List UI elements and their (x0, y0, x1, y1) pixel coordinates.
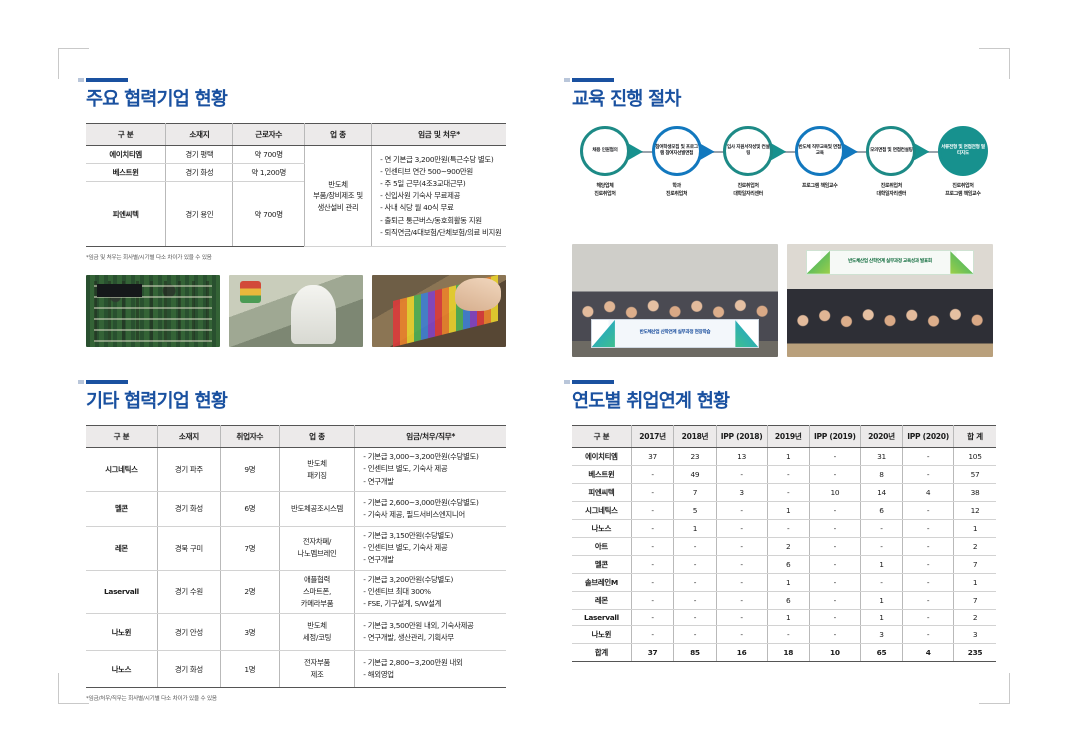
cell-total: 2 (954, 538, 996, 556)
col-ipp-2018: IPP (2018) (716, 426, 767, 448)
cell-count: 31 (860, 448, 902, 466)
cell-hires: 1명 (220, 651, 279, 688)
cell-total: 2 (954, 610, 996, 626)
table-row: 레몬 경북 구미 7명 전자차폐/ 나노멤브레인 - 기본급 3,150만원(수… (86, 526, 506, 570)
cell-company-name: 나노윈 (86, 614, 157, 651)
benefit-line: - 신입사원 기숙사 무료제공 (380, 190, 502, 202)
cell-industry: 반도체 세정/코팅 (279, 614, 355, 651)
main-partners-table: 구 분 소재지 근로자수 업 종 임금 및 처우* 에이치티엠 경기 평택 약 … (86, 123, 506, 247)
cell-count: - (903, 538, 954, 556)
cell-count: 1 (860, 556, 902, 574)
cell-hires: 6명 (220, 491, 279, 526)
cell-company-name: 레몬 (86, 526, 157, 570)
cell-count: - (809, 520, 860, 538)
cell-count: - (809, 556, 860, 574)
page-title-education-flow: 교육 진행 절차 (572, 89, 996, 110)
table-row: 아트---2---2 (572, 538, 996, 556)
detail-line: - 인센티브 최대 300% (363, 586, 502, 598)
cell-company-name: 시그네틱스 (86, 448, 157, 492)
cell-count: - (674, 556, 716, 574)
col-division: 구 분 (86, 426, 157, 448)
other-partners-table: 구 분 소재지 취업자수 업 종 임금/처우/직무* 시그네틱스 경기 파주 9… (86, 425, 506, 688)
cell-count: - (809, 466, 860, 484)
cell-count: 13 (716, 448, 767, 466)
cell-company-name: 나노스 (86, 651, 157, 688)
table-row: 시그네틱스 경기 파주 9명 반도체 패키징 - 기본급 3,000~3,200… (86, 448, 506, 492)
cell-count: 6 (767, 592, 809, 610)
col-industry: 업 종 (304, 124, 371, 146)
cell-count: 2 (767, 538, 809, 556)
flow-step-circle: 서류전형 및 면접전형 멀티지도 (938, 126, 988, 176)
table-header-row: 구 분 소재지 근로자수 업 종 임금 및 처우* (86, 124, 506, 146)
benefit-line: - 사내 식당 월 40식 무료 (380, 202, 502, 214)
cell-wage-benefits: - 연 기본급 3,200만원(특근수당 별도) - 인센티브 연간 500~9… (372, 146, 506, 247)
photo-banner-text: 반도체산업 산학연계 실무과정 교육성과 발표회 (806, 250, 975, 275)
crop-mark-bottom-right (979, 673, 1010, 704)
cell-count: - (716, 626, 767, 644)
crop-mark-top-right (979, 48, 1010, 79)
cell-count: 3 (716, 484, 767, 502)
cell-count: 4 (903, 644, 954, 662)
table-row: 나노윈 경기 안성 3명 반도체 세정/코팅 - 기본급 3,500만원 내외,… (86, 614, 506, 651)
table-row: 나노스 경기 화성 1명 전자부품 제조 - 기본급 2,800~3,200만원… (86, 651, 506, 688)
flow-step-1: 채용 인원협의 해당업체 진로취업처 (572, 126, 638, 198)
table-row: 시그네틱스-5-1-6-12 (572, 502, 996, 520)
section-education-flow: 교육 진행 절차 채용 인원협의 해당업체 진로취업처 참여학생모집 및 프로그… (572, 78, 996, 357)
cell-count: - (767, 626, 809, 644)
cell-count: - (903, 574, 954, 592)
photo-banner-text: 반도체산업 산학연계 실무과정 현장학습 (591, 319, 760, 348)
cell-count: - (631, 466, 673, 484)
col-2017: 2017년 (631, 426, 673, 448)
cell-total: 7 (954, 556, 996, 574)
cell-count: 49 (674, 466, 716, 484)
detail-line: - 기본급 2,800~3,200만원 내외 (363, 657, 502, 669)
col-2020: 2020년 (860, 426, 902, 448)
cell-location: 경기 화성 (166, 164, 233, 182)
benefit-line: - 퇴직연금/4대보험/단체보험/의료 비지원 (380, 227, 502, 239)
cell-count: - (631, 484, 673, 502)
table-header-row: 구 분 2017년 2018년 IPP (2018) 2019년 IPP (20… (572, 426, 996, 448)
page-title-other-partners: 기타 협력기업 현황 (86, 391, 506, 412)
col-2018: 2018년 (674, 426, 716, 448)
cell-count: - (674, 538, 716, 556)
cell-count: 16 (716, 644, 767, 662)
cell-location: 경기 파주 (157, 448, 220, 492)
photo-silicon-wafer (372, 275, 506, 347)
col-2019: 2019년 (767, 426, 809, 448)
cell-count: - (631, 574, 673, 592)
cell-industry: 전자부품 제조 (279, 651, 355, 688)
table-row: 나노윈-----3-3 (572, 626, 996, 644)
section-main-partners: 주요 협력기업 현황 구 분 소재지 근로자수 업 종 임금 및 처우* 에이치… (86, 78, 506, 347)
cell-count: 1 (767, 502, 809, 520)
col-workers: 근로자수 (233, 124, 304, 146)
heading-accent-bar (86, 78, 128, 82)
photo-people (791, 296, 989, 337)
detail-line: - 해외영업 (363, 669, 502, 681)
flow-step-circle: 참여학생모집 및 프로그램 참여자선발면접 (652, 126, 702, 176)
cell-count: - (809, 448, 860, 466)
cell-count: - (631, 538, 673, 556)
cell-count: - (631, 502, 673, 520)
flow-arrow-icon (700, 143, 715, 160)
cell-workers: 약 1,200명 (233, 164, 304, 182)
cell-count: - (903, 520, 954, 538)
cell-count: - (674, 574, 716, 592)
cell-company-name: 나노윈 (572, 626, 631, 644)
cell-count: - (716, 574, 767, 592)
cell-company-name: 합계 (572, 644, 631, 662)
cell-count: 4 (903, 484, 954, 502)
flow-arrow-icon (914, 143, 929, 160)
flow-step-circle: 채용 인원협의 (580, 126, 630, 176)
cell-count: - (716, 502, 767, 520)
cell-industry: 반도체 패키징 (279, 448, 355, 492)
cell-total: 38 (954, 484, 996, 502)
col-hires: 취업자수 (220, 426, 279, 448)
cell-count: - (674, 626, 716, 644)
cell-count: 23 (674, 448, 716, 466)
cell-location: 경기 화성 (157, 491, 220, 526)
table-header-row: 구 분 소재지 취업자수 업 종 임금/처우/직무* (86, 426, 506, 448)
cell-location: 경기 안성 (157, 614, 220, 651)
section-employment-by-year: 연도별 취업연계 현황 구 분 2017년 2018년 IPP (2018) 2… (572, 380, 996, 662)
cell-company-name: 에이치티엠 (86, 146, 166, 164)
detail-line: - 기본급 3,500만원 내외, 기숙사제공 (363, 620, 502, 632)
cell-total: 57 (954, 466, 996, 484)
cell-count: - (716, 592, 767, 610)
employment-by-year-table: 구 분 2017년 2018년 IPP (2018) 2019년 IPP (20… (572, 425, 996, 662)
cell-count: 37 (631, 644, 673, 662)
cell-count: - (809, 538, 860, 556)
cell-count: 8 (860, 466, 902, 484)
flow-step-owner: 진로취업처 대학일자리센터 (733, 183, 763, 198)
detail-line: - 연구개발 (363, 476, 502, 488)
cell-company-name: 시그네틱스 (572, 502, 631, 520)
cell-count: - (903, 610, 954, 626)
flow-step-5: 모의면접 및 면접컨설팅 진로취업처 대학일자리센터 (858, 126, 924, 198)
cell-company-name: 아트 (572, 538, 631, 556)
cell-total: 105 (954, 448, 996, 466)
cell-count: - (903, 626, 954, 644)
cell-location: 경기 수원 (157, 570, 220, 614)
heading-accent-bar (86, 380, 128, 384)
photo-field-training: 반도체산업 산학연계 실무과정 현장학습 (572, 244, 778, 357)
flow-arrow-icon (843, 143, 858, 160)
col-location: 소재지 (166, 124, 233, 146)
cell-company-name: 피엔씨텍 (572, 484, 631, 502)
cell-count: - (860, 520, 902, 538)
cell-count: 1 (767, 448, 809, 466)
cell-company-name: 피엔씨텍 (86, 182, 166, 247)
page-title-main-partners: 주요 협력기업 현황 (86, 89, 506, 110)
cell-count: - (809, 502, 860, 520)
cell-count: 1 (860, 592, 902, 610)
benefit-line: - 인센티브 연간 500~900만원 (380, 166, 502, 178)
cell-wage-role: - 기본급 3,500만원 내외, 기숙사제공 - 연구개발, 생산관리, 기획… (355, 614, 506, 651)
table-row: 에이치티엠3723131-31-105 (572, 448, 996, 466)
photo-pcb-board (86, 275, 220, 347)
cell-count: - (674, 610, 716, 626)
cell-count: - (903, 466, 954, 484)
table-row: Laservall---1-1-2 (572, 610, 996, 626)
cell-hires: 3명 (220, 614, 279, 651)
cell-count: - (903, 502, 954, 520)
cell-count: - (809, 592, 860, 610)
cell-total: 1 (954, 520, 996, 538)
flow-step-circle: 모의면접 및 면접컨설팅 (866, 126, 916, 176)
cell-count: 3 (860, 626, 902, 644)
cell-total: 1 (954, 574, 996, 592)
cell-count: - (631, 610, 673, 626)
cell-location: 경기 용인 (166, 182, 233, 247)
crop-mark-bottom-left (58, 673, 89, 704)
cell-count: - (860, 574, 902, 592)
photo-strip-education: 반도체산업 산학연계 실무과정 현장학습 반도체산업 산학연계 실무과정 교육성… (572, 244, 996, 357)
col-ipp-2020: IPP (2020) (903, 426, 954, 448)
cell-count: 37 (631, 448, 673, 466)
table-row: 나노스-1-----1 (572, 520, 996, 538)
table-row: 피엔씨텍-73-1014438 (572, 484, 996, 502)
cell-total: 7 (954, 592, 996, 610)
cell-count: 1 (674, 520, 716, 538)
cell-count: - (767, 466, 809, 484)
col-location: 소재지 (157, 426, 220, 448)
flow-arrow-icon (771, 143, 786, 160)
detail-line: - 기본급 2,600~3,000만원(수당별도) (363, 497, 502, 509)
flow-step-owner: 프로그램 책임교수 (802, 183, 837, 191)
cell-count: - (631, 520, 673, 538)
flow-step-circle: 입사 지원서작성및 컨설팅 (723, 126, 773, 176)
cell-company-name: 레몬 (572, 592, 631, 610)
benefit-line: - 주 5일 근무(4조3교대근무) (380, 178, 502, 190)
detail-line: - 기본급 3,150만원(수당별도) (363, 530, 502, 542)
flow-arrow-icon (628, 143, 643, 160)
cell-wage-role: - 기본급 3,150만원(수당별도) - 인센티브 별도, 기숙사 제공 - … (355, 526, 506, 570)
col-division: 구 분 (86, 124, 166, 146)
flow-step-3: 입사 지원서작성및 컨설팅 진로취업처 대학일자리센터 (715, 126, 781, 198)
cell-count: 6 (767, 556, 809, 574)
cell-company-name: 나노스 (572, 520, 631, 538)
cell-count: - (903, 448, 954, 466)
cell-company-name: Laservall (572, 610, 631, 626)
cell-wage-role: - 기본급 2,600~3,000만원(수당별도) - 기숙사 제공, 필드서비… (355, 491, 506, 526)
table-row: Laservall 경기 수원 2명 애플협력 스마트폰, 카메라부품 - 기본… (86, 570, 506, 614)
cell-count: - (903, 556, 954, 574)
cell-wage-role: - 기본급 2,800~3,200만원 내외 - 해외영업 (355, 651, 506, 688)
cell-hires: 9명 (220, 448, 279, 492)
cell-count: 14 (860, 484, 902, 502)
cell-count: - (767, 484, 809, 502)
cell-count: - (767, 520, 809, 538)
cell-count: 1 (860, 610, 902, 626)
photo-strip-semiconductor (86, 275, 506, 347)
table-row: 레몬---6-1-7 (572, 592, 996, 610)
cell-company-name: 베스트윈 (572, 466, 631, 484)
cell-count: - (809, 610, 860, 626)
cell-hires: 7명 (220, 526, 279, 570)
process-flow-diagram: 채용 인원협의 해당업체 진로취업처 참여학생모집 및 프로그램 참여자선발면접… (572, 126, 996, 234)
cell-count: - (716, 520, 767, 538)
cell-industry: 반도체 부품/장비제조 및 생산설비 관리 (304, 146, 371, 247)
cell-workers: 약 700명 (233, 182, 304, 247)
cell-location: 경북 구미 (157, 526, 220, 570)
table-row: 베스트윈-49---8-57 (572, 466, 996, 484)
table-row: 솔브레인M---1---1 (572, 574, 996, 592)
col-wage-benefits: 임금 및 처우* (372, 124, 506, 146)
cell-count: 5 (674, 502, 716, 520)
cell-count: 6 (860, 502, 902, 520)
cell-company-name: Laservall (86, 570, 157, 614)
photo-seminar: 반도체산업 산학연계 실무과정 교육성과 발표회 (787, 244, 993, 357)
col-industry: 업 종 (279, 426, 355, 448)
flow-step-2: 참여학생모집 및 프로그램 참여자선발면접 학과 진로취업처 (644, 126, 710, 198)
footnote-wage: *임금 및 처우는 회사별/시기별 다소 차이가 있을 수 있음 (86, 253, 506, 261)
heading-accent-bar (572, 380, 614, 384)
cell-company-name: 솔브레인M (572, 574, 631, 592)
footnote-wage-role: *임금/처우/직무는 회사별/시기별 다소 차이가 있을 수 있음 (86, 694, 506, 702)
detail-line: - 기숙사 제공, 필드서비스엔지니어 (363, 509, 502, 521)
flow-step-circle: 반도체 직무교육및 면접교육 (795, 126, 845, 176)
cell-count: - (809, 626, 860, 644)
cell-count: - (631, 626, 673, 644)
cell-count: - (903, 592, 954, 610)
cell-count: 10 (809, 644, 860, 662)
cell-count: 18 (767, 644, 809, 662)
detail-line: - 기본급 3,200만원(수당별도) (363, 574, 502, 586)
cell-location: 경기 평택 (166, 146, 233, 164)
detail-line: - 연구개발 (363, 554, 502, 566)
detail-line: - 인센티브 별도, 기숙사 제공 (363, 542, 502, 554)
cell-count: - (809, 574, 860, 592)
cell-count: 7 (674, 484, 716, 502)
flow-step-6: 서류전형 및 면접전형 멀티지도 진로취업처 프로그램 책임교수 (930, 126, 996, 198)
col-wage-role: 임금/처우/직무* (355, 426, 506, 448)
col-total: 합 계 (954, 426, 996, 448)
cell-industry: 전자차폐/ 나노멤브레인 (279, 526, 355, 570)
cell-count: 1 (767, 574, 809, 592)
section-other-partners: 기타 협력기업 현황 구 분 소재지 취업자수 업 종 임금/처우/직무* 시그… (86, 380, 506, 702)
detail-line: - 기본급 3,000~3,200만원(수당별도) (363, 451, 502, 463)
cell-location: 경기 화성 (157, 651, 220, 688)
cell-count: - (716, 466, 767, 484)
cell-wage-role: - 기본급 3,000~3,200만원(수당별도) - 인센티브 별도, 기숙사… (355, 448, 506, 492)
crop-mark-top-left (58, 48, 89, 79)
heading-accent-bar (572, 78, 614, 82)
cell-count: 85 (674, 644, 716, 662)
cell-count: - (631, 556, 673, 574)
cell-count: 10 (809, 484, 860, 502)
benefit-line: - 출퇴근 통근버스/동호회활동 지원 (380, 215, 502, 227)
flow-step-owner: 진로취업처 대학일자리센터 (877, 183, 907, 198)
cell-count: 65 (860, 644, 902, 662)
flow-step-owner: 진로취업처 프로그램 책임교수 (945, 183, 980, 198)
cell-count: - (674, 592, 716, 610)
cell-count: - (716, 556, 767, 574)
col-ipp-2019: IPP (2019) (809, 426, 860, 448)
detail-line: - FSE, 기구설계, S/W설계 (363, 598, 502, 610)
cell-company-name: 베스트윈 (86, 164, 166, 182)
cell-count: 1 (767, 610, 809, 626)
table-row: 멜콘---6-1-7 (572, 556, 996, 574)
flow-step-owner: 학과 진로취업처 (666, 183, 687, 198)
cell-total: 235 (954, 644, 996, 662)
benefit-line: - 연 기본급 3,200만원(특근수당 별도) (380, 154, 502, 166)
table-row: 멜콘 경기 화성 6명 반도체공조시스템 - 기본급 2,600~3,000만원… (86, 491, 506, 526)
flow-step-4: 반도체 직무교육및 면접교육 프로그램 책임교수 (787, 126, 853, 191)
detail-line: - 연구개발, 생산관리, 기획사무 (363, 632, 502, 644)
cell-company-name: 멜콘 (86, 491, 157, 526)
detail-line: - 인센티브 별도, 기숙사 제공 (363, 463, 502, 475)
cell-total: 12 (954, 502, 996, 520)
table-row: 에이치티엠 경기 평택 약 700명 반도체 부품/장비제조 및 생산설비 관리… (86, 146, 506, 164)
page-title-employment-by-year: 연도별 취업연계 현황 (572, 391, 996, 412)
cell-count: - (716, 538, 767, 556)
cell-industry: 애플협력 스마트폰, 카메라부품 (279, 570, 355, 614)
cell-count: - (631, 592, 673, 610)
cell-count: - (716, 610, 767, 626)
cell-industry: 반도체공조시스템 (279, 491, 355, 526)
cell-hires: 2명 (220, 570, 279, 614)
cell-workers: 약 700명 (233, 146, 304, 164)
flow-step-owner: 해당업체 진로취업처 (594, 183, 615, 198)
cell-company-name: 멜콘 (572, 556, 631, 574)
cell-wage-role: - 기본급 3,200만원(수당별도) - 인센티브 최대 300% - FSE… (355, 570, 506, 614)
table-total-row: 합계3785161810654235 (572, 644, 996, 662)
cell-count: - (860, 538, 902, 556)
photo-cleanroom-worker (229, 275, 363, 347)
cell-company-name: 에이치티엠 (572, 448, 631, 466)
col-division: 구 분 (572, 426, 631, 448)
cell-total: 3 (954, 626, 996, 644)
